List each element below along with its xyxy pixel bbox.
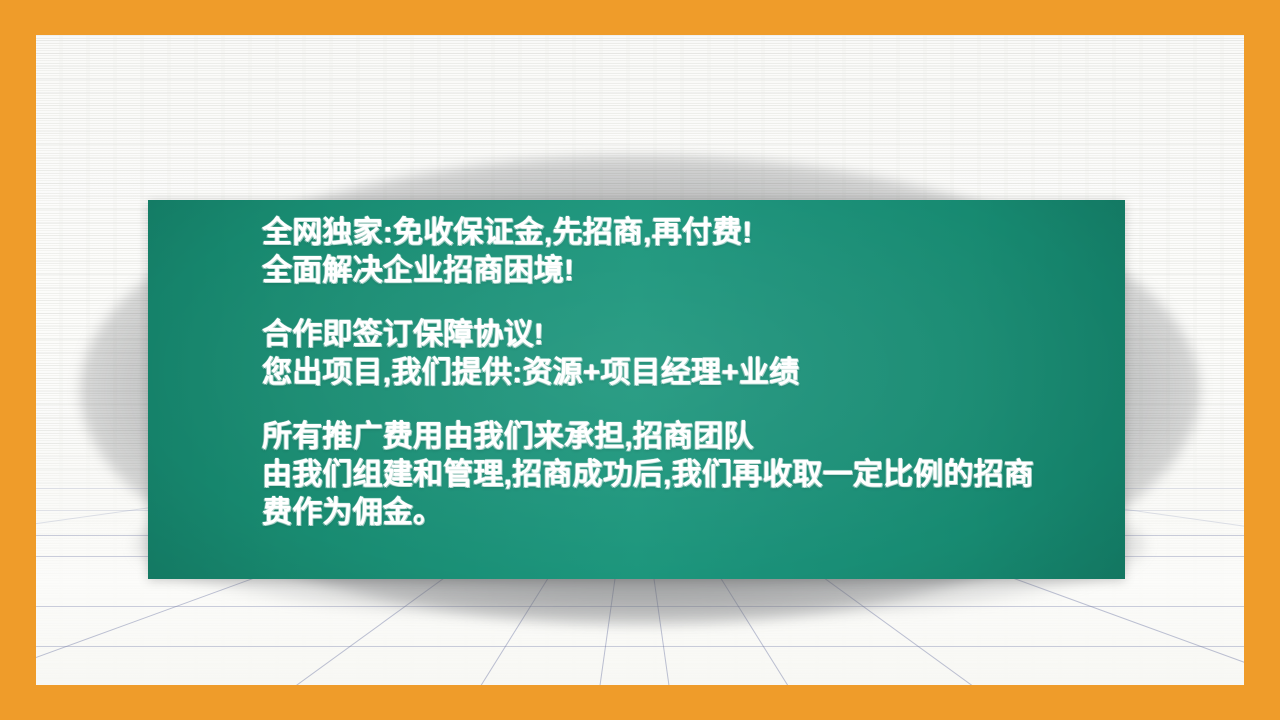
paragraph-commission: 所有推广费用由我们来承担,招商团队 由我们组建和管理,招商成功后,我们再收取一定…: [262, 418, 1115, 532]
paragraph-agreement: 合作即签订保障协议! 您出项目,我们提供:资源+项目经理+业绩: [262, 316, 1115, 392]
message-text-block: 全网独家:免收保证金,先招商,再付费! 全面解决企业招商困境! 合作即签订保障协…: [262, 214, 1115, 532]
message-line: 费作为佣金。: [262, 494, 1115, 532]
floor-gridline-horizontal: [36, 606, 1244, 607]
message-card: 全网独家:免收保证金,先招商,再付费! 全面解决企业招商困境! 合作即签订保障协…: [148, 200, 1125, 579]
message-line: 由我们组建和管理,招商成功后,我们再收取一定比例的招商: [262, 456, 1115, 494]
message-line: 全网独家:免收保证金,先招商,再付费!: [262, 214, 1115, 252]
message-line: 合作即签订保障协议!: [262, 316, 1115, 354]
message-line: 所有推广费用由我们来承担,招商团队: [262, 418, 1115, 456]
message-line: 您出项目,我们提供:资源+项目经理+业绩: [262, 354, 1115, 392]
floor-gridline-horizontal: [36, 646, 1244, 647]
paragraph-headline: 全网独家:免收保证金,先招商,再付费! 全面解决企业招商困境!: [262, 214, 1115, 290]
slide-canvas: 全网独家:免收保证金,先招商,再付费! 全面解决企业招商困境! 合作即签订保障协…: [0, 0, 1280, 720]
message-line: 全面解决企业招商困境!: [262, 252, 1115, 290]
